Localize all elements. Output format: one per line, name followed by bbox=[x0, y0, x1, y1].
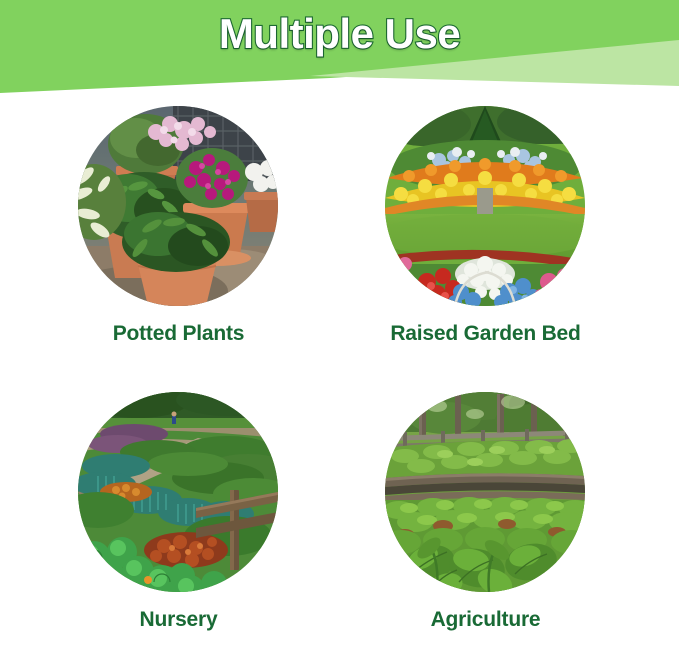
nursery-photo bbox=[78, 392, 278, 592]
use-case-label: Agriculture bbox=[332, 608, 639, 632]
multiple-use-infographic: Multiple Use bbox=[0, 0, 679, 650]
use-case-card-agriculture: Agriculture bbox=[332, 386, 639, 650]
use-case-label: Raised Garden Bed bbox=[332, 322, 639, 346]
agriculture-photo bbox=[385, 392, 585, 592]
header-banner: Multiple Use bbox=[0, 0, 679, 100]
potted-plants-photo bbox=[78, 106, 278, 306]
raised-garden-bed-photo bbox=[385, 106, 585, 306]
use-case-label: Nursery bbox=[25, 608, 332, 632]
use-case-card-nursery: Nursery bbox=[25, 386, 332, 650]
use-case-card-potted-plants: Potted Plants bbox=[25, 100, 332, 366]
use-case-card-raised-garden-bed: Raised Garden Bed bbox=[332, 100, 639, 366]
use-case-grid: Potted Plants bbox=[0, 100, 679, 650]
page-title: Multiple Use bbox=[0, 8, 679, 60]
use-case-label: Potted Plants bbox=[25, 322, 332, 346]
